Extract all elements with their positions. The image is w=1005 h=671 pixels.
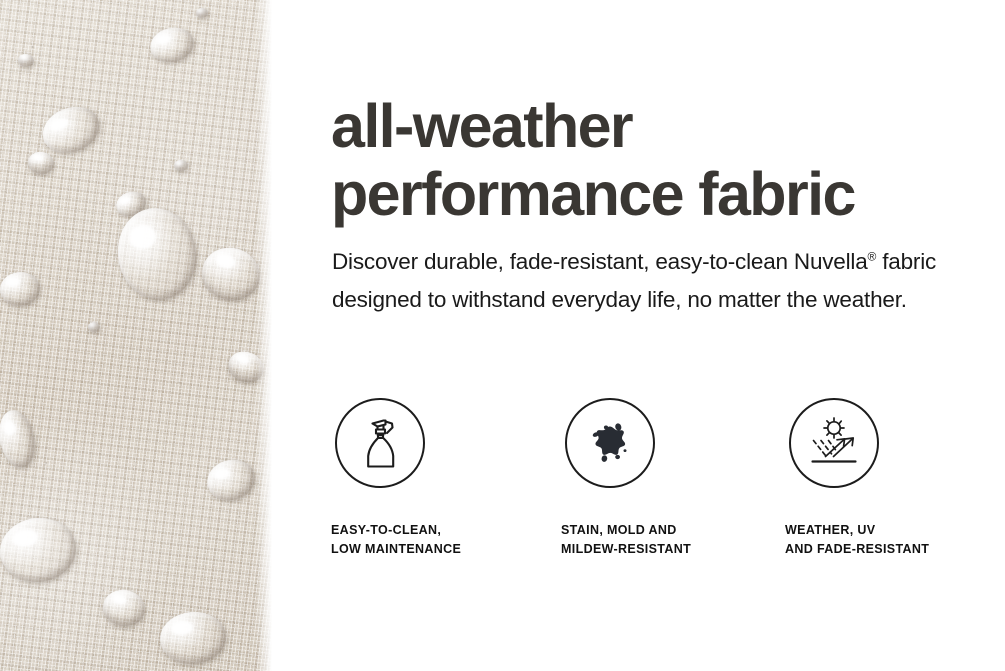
subcopy-line-1: Discover durable, fade-resistant, easy-t… bbox=[332, 249, 788, 274]
sun-uv-reflect-icon bbox=[789, 398, 879, 488]
promo-subcopy: Discover durable, fade-resistant, easy-t… bbox=[332, 243, 944, 319]
feature-label: STAIN, MOLD AND MILDEW-RESISTANT bbox=[561, 488, 776, 559]
brand-name: Nuvella bbox=[794, 249, 868, 274]
feature-item-weather-uv-resistant: WEATHER, UV AND FADE-RESISTANT bbox=[785, 398, 1000, 559]
all-weather-fabric-promo-banner: all-weather performance fabric Discover … bbox=[0, 0, 1005, 671]
fabric-photo-panel bbox=[0, 0, 272, 671]
feature-label: WEATHER, UV AND FADE-RESISTANT bbox=[785, 488, 1000, 559]
spray-bottle-icon bbox=[335, 398, 425, 488]
feature-label: EASY-TO-CLEAN, LOW MAINTENANCE bbox=[331, 488, 546, 559]
feature-list: EASY-TO-CLEAN, LOW MAINTENANCE STAIN, M bbox=[272, 398, 1005, 568]
feature-item-easy-to-clean: EASY-TO-CLEAN, LOW MAINTENANCE bbox=[331, 398, 546, 559]
feature-item-stain-resistant: STAIN, MOLD AND MILDEW-RESISTANT bbox=[561, 398, 776, 559]
water-droplet bbox=[174, 160, 188, 171]
water-droplet bbox=[196, 8, 208, 18]
promo-content-panel: all-weather performance fabric Discover … bbox=[272, 0, 1005, 671]
registered-trademark-icon: ® bbox=[868, 250, 877, 264]
water-droplet bbox=[88, 322, 100, 332]
promo-headline: all-weather performance fabric bbox=[331, 92, 971, 228]
subcopy-line-3: no matter the weather. bbox=[687, 287, 906, 312]
photo-right-edge-fade bbox=[256, 0, 272, 671]
stain-splat-icon bbox=[565, 398, 655, 488]
